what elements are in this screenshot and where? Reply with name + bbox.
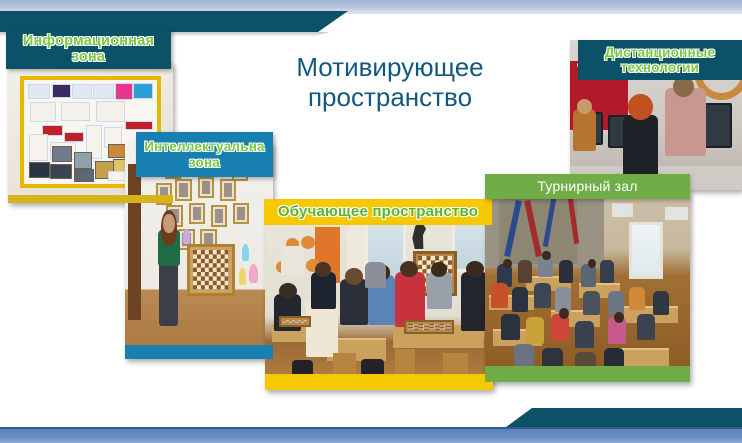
demo-chess-board	[187, 244, 234, 296]
strip-learning-space	[265, 374, 493, 390]
strip-intellectual-zone	[125, 345, 273, 359]
photo-learning-space	[265, 205, 493, 390]
page-title: Мотивирующее пространство	[255, 52, 525, 113]
label-intellectual-zone: Интеллектуальна зона	[136, 132, 273, 177]
label-learning-space: Обучающее пространство	[264, 199, 492, 225]
classroom-students-chess-photo	[265, 205, 493, 390]
slide-canvas: Мотивирующее пространство	[0, 0, 742, 443]
bottom-gradient-bar	[0, 429, 742, 443]
door	[128, 164, 141, 320]
strip-tournament-hall	[485, 366, 690, 382]
photo-tournament-hall	[485, 192, 690, 382]
strip-information-zone	[8, 195, 173, 203]
label-tournament-hall: Турнирный зал	[485, 174, 690, 199]
label-distance-technology: Дистанционные технологии	[578, 40, 742, 80]
label-information-zone: Информационная зона	[6, 29, 171, 69]
tournament-hall-chess-tables-photo	[485, 192, 690, 382]
person-head	[163, 214, 174, 234]
